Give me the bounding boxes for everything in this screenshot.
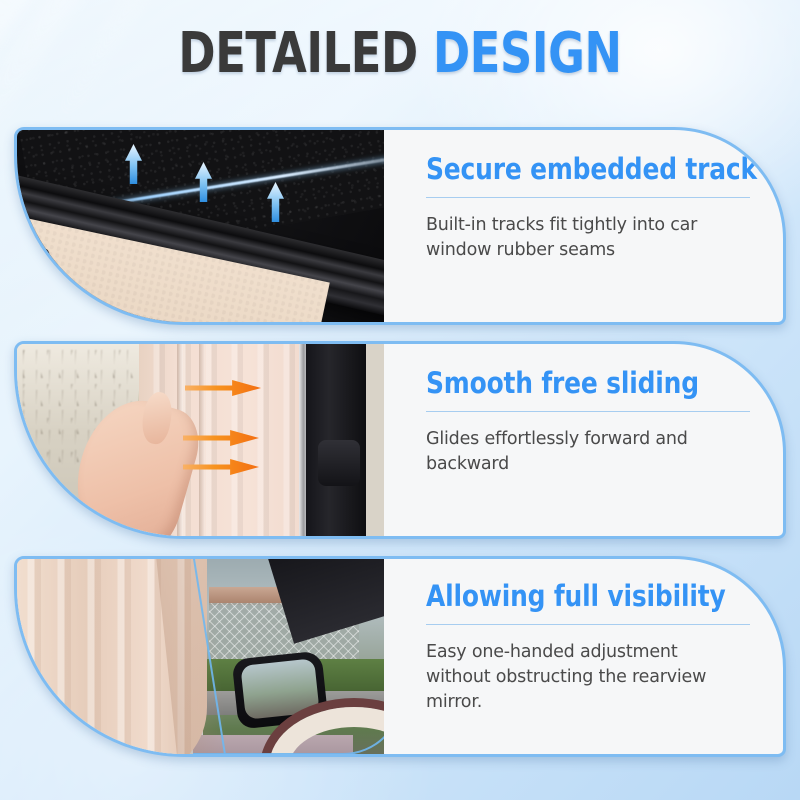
page-title-part-one: DETAILED: [178, 21, 417, 86]
feature-body: Easy one-handed adjustment without obstr…: [426, 640, 731, 715]
feature-image-allowing-full-visibility: [17, 559, 384, 754]
feature-card-allowing-full-visibility: Allowing full visibility Easy one-handed…: [14, 556, 786, 757]
page-header: DETAILED DESIGN: [0, 26, 800, 82]
page-title-part-two: DESIGN: [433, 21, 622, 86]
photo-visibility-outline: [193, 559, 384, 754]
feature-image-smooth-free-sliding: [17, 344, 384, 536]
photo-door-button: [318, 440, 360, 486]
feature-divider: [426, 411, 750, 412]
feature-card-secure-embedded-track: Secure embedded track Built-in tracks fi…: [14, 127, 786, 325]
feature-text-smooth-free-sliding: Smooth free sliding Glides effortlessly …: [384, 344, 786, 536]
feature-heading: Secure embedded track: [426, 154, 757, 184]
page-title: DETAILED DESIGN: [80, 26, 720, 82]
feature-heading: Allowing full visibility: [426, 581, 726, 611]
feature-body: Glides effortlessly forward and backward: [426, 427, 731, 477]
feature-body: Built-in tracks fit tightly into car win…: [426, 213, 731, 263]
feature-text-secure-embedded-track: Secure embedded track Built-in tracks fi…: [384, 130, 786, 322]
feature-text-allowing-full-visibility: Allowing full visibility Easy one-handed…: [384, 559, 786, 754]
feature-divider: [426, 624, 750, 625]
feature-card-smooth-free-sliding: Smooth free sliding Glides effortlessly …: [14, 341, 786, 539]
feature-image-secure-embedded-track: [17, 130, 384, 322]
feature-divider: [426, 197, 750, 198]
feature-heading: Smooth free sliding: [426, 368, 705, 398]
